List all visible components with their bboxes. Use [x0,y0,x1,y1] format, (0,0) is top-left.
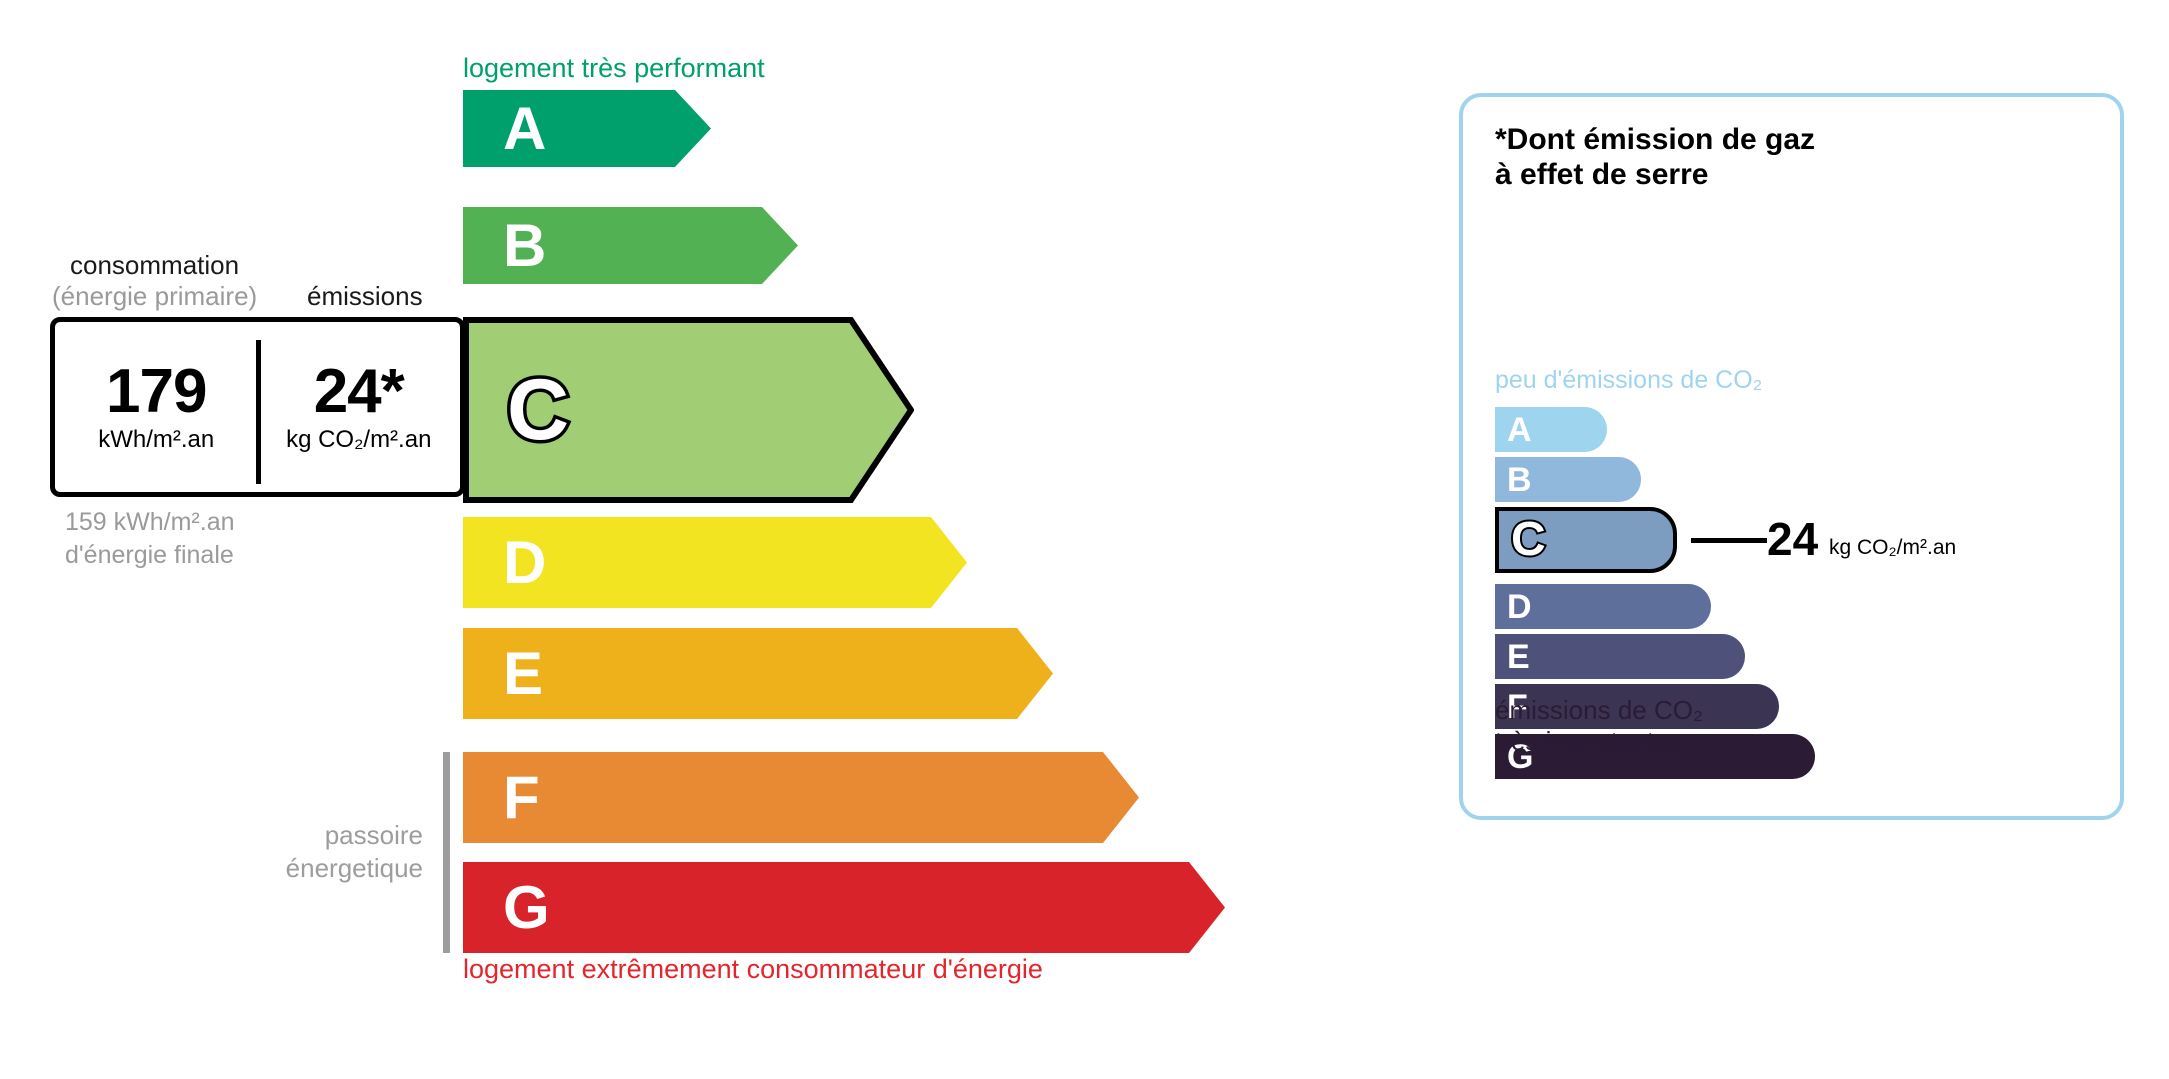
passoire-label-line1: passoire [318,820,423,851]
ges-bottom-caption: émissions de CO₂ très importantes [1495,695,1703,757]
ges-title: *Dont émission de gaz à effet de serre [1495,123,1815,193]
ges-class-letter-e: E [1507,640,1530,674]
ges-class-bar-d: D [1495,584,1711,629]
ges-class-bar-a: A [1495,407,1607,452]
consumption-sublabel: (énergie primaire) [52,281,257,312]
passoire-label-line2: énergetique [276,853,423,884]
passoire-bracket [443,752,450,953]
ges-class-bar-b: B [1495,457,1641,502]
energy-class-bar-c-selected: C [463,317,914,503]
energy-class-bar-f: F [463,752,1139,843]
final-energy-value: 159 kWh/m².an [65,508,235,537]
energy-class-bar-e: E [463,628,1053,719]
ges-panel: *Dont émission de gaz à effet de serre p… [1459,93,2124,820]
emissions-value: 24* [258,360,461,423]
energy-performance-chart: logement très performant consommation (é… [0,0,1400,1079]
emissions-value-cell: 24* kg CO₂/m².an [258,360,461,453]
ges-class-letter-b: B [1507,463,1532,497]
consumption-unit: kWh/m².an [55,426,258,454]
energy-class-bar-a: A [463,90,711,167]
ges-value-unit: kg CO₂/m².an [1829,536,1956,560]
ges-class-letter-d: D [1507,590,1532,624]
consumption-value: 179 [55,360,258,423]
energy-class-bar-d: D [463,517,967,608]
ges-value: 24 [1767,516,1818,562]
energy-bottom-caption: logement extrêmement consommateur d'éner… [463,954,1043,985]
energy-top-caption: logement très performant [463,53,765,84]
dpe-ges-diagram: logement très performant consommation (é… [0,0,2169,1079]
consumption-value-cell: 179 kWh/m².an [55,360,258,453]
ges-callout-connector [1691,538,1767,543]
energy-class-bar-g: G [463,862,1225,953]
value-box: 179 kWh/m².an 24* kg CO₂/m².an [50,317,465,497]
emissions-unit: kg CO₂/m².an [258,426,461,454]
energy-class-bar-b: B [463,207,798,284]
final-energy-label: d'énergie finale [65,541,234,570]
ges-top-caption: peu d'émissions de CO₂ [1495,366,1762,395]
ges-class-letter-a: A [1507,413,1532,447]
consumption-label: consommation [70,250,239,281]
ges-class-bar-c-selected: C [1495,507,1677,573]
ges-class-letter-c: C [1511,516,1546,564]
emissions-label: émissions [307,281,423,312]
ges-class-bar-e: E [1495,634,1745,679]
